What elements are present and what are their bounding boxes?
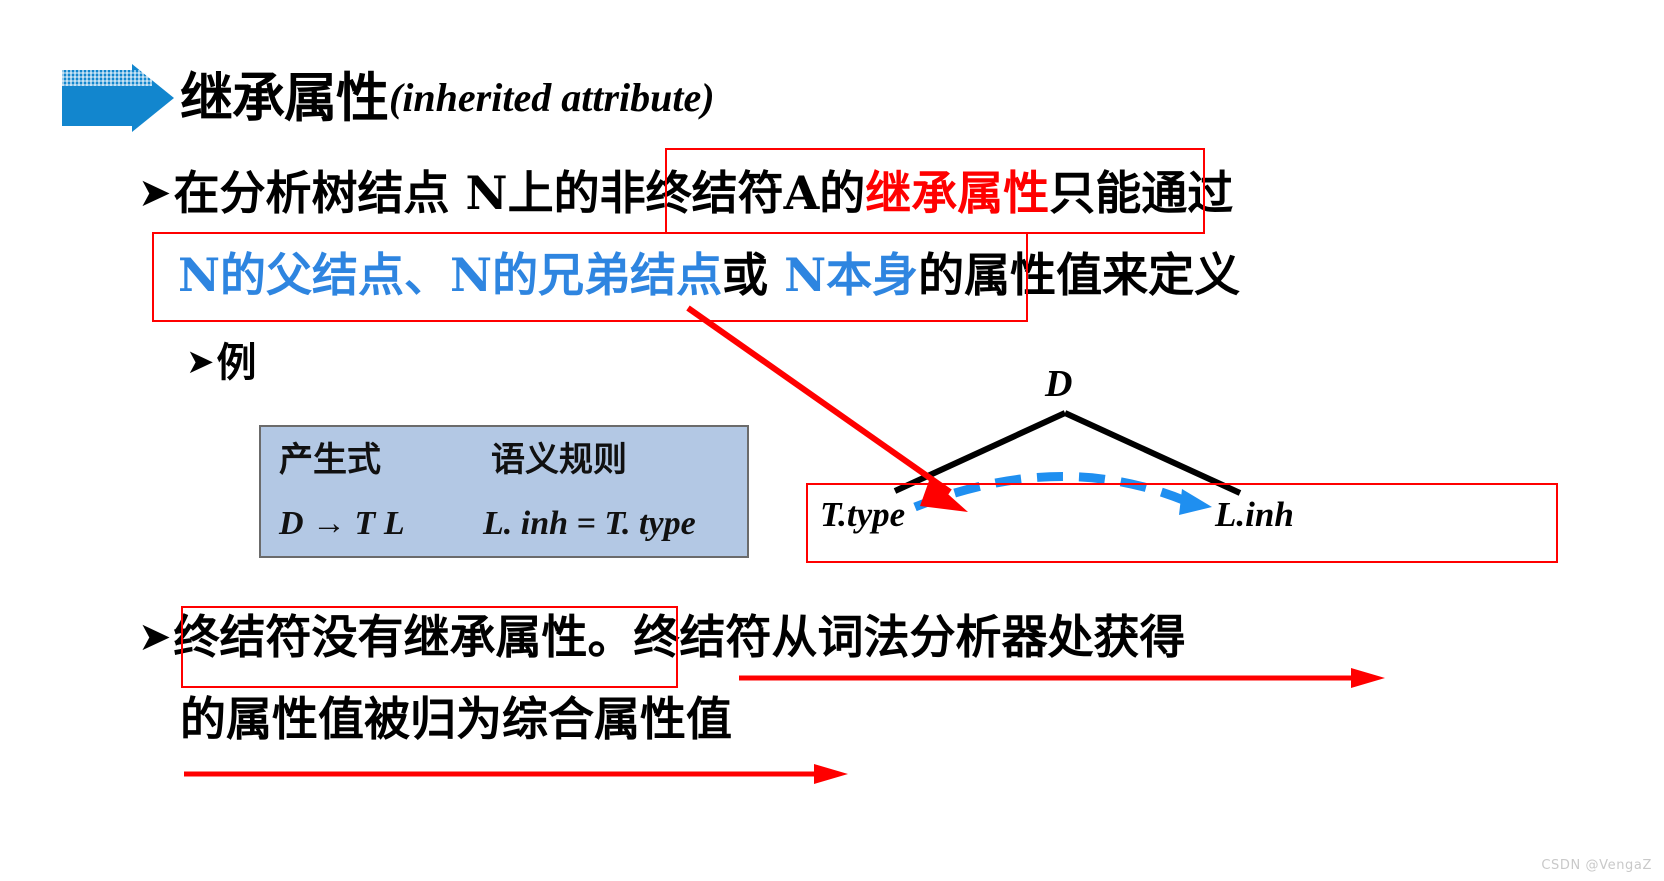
line1-seg4: 只能通过 — [1049, 166, 1233, 220]
example-label: 例 — [217, 339, 257, 386]
line4-seg1: 的属性值被归为综合属性值 — [180, 692, 732, 746]
title-english: (inherited attribute) — [389, 78, 715, 118]
red-underline-arrow-line4 — [182, 758, 862, 784]
slide-canvas: 继承属性 (inherited attribute) ➤在分析树结点 N上的非终… — [0, 0, 1664, 881]
bullet-line-4: 的属性值被归为综合属性值 — [180, 696, 732, 742]
red-pointer-arrow — [680, 300, 1020, 530]
tree-node-root-d: D — [1045, 365, 1072, 403]
line1-seg2: 非终结符A的 — [600, 166, 866, 220]
bullet-example: ➤例 — [186, 343, 257, 383]
arrow-bullet-icon — [62, 64, 174, 132]
red-underline-arrow-head-line3 — [1351, 668, 1385, 688]
bullet-marker-icon-example: ➤ — [186, 342, 215, 382]
line2-seg1-parent-sibling: N的父结点、N的兄弟结点 — [178, 248, 722, 302]
bullet-line-3: ➤终结符没有继承属性。终结符从词法分析器处获得 — [138, 614, 1186, 660]
line3-seg2: 。终结符从词法分析器处获得 — [588, 610, 1186, 664]
table-cell-semantic-rule: L. inh = T. type — [483, 507, 696, 541]
production-table: 产生式 语义规则 D → T L L. inh = T. type — [259, 425, 749, 558]
arrow-texture — [62, 70, 152, 86]
line1-highlight-inherited-attribute: 继承属性 — [865, 166, 1049, 220]
table-header-production: 产生式 — [279, 443, 381, 477]
line1-seg1: 在分析树结点 N上的 — [174, 166, 600, 220]
line2-seg3-self: N本身 — [784, 248, 918, 302]
title-chinese: 继承属性 — [180, 72, 388, 125]
line3-seg1-terminal-no-inherited: 终结符没有继承属性 — [174, 610, 588, 664]
red-underline-arrow-line3 — [737, 662, 1397, 688]
bullet-line-2: N的父结点、N的兄弟结点或 N本身的属性值来定义 — [178, 252, 1240, 298]
bullet-marker-icon-3: ➤ — [138, 614, 172, 660]
line2-seg2: 或 — [722, 248, 784, 302]
red-pointer-arrow-head — [920, 478, 968, 512]
bullet-marker-icon: ➤ — [138, 170, 172, 216]
bullet-line-1: ➤在分析树结点 N上的非终结符A的继承属性只能通过 — [138, 170, 1233, 216]
red-underline-arrow-head-line4 — [814, 764, 848, 784]
line2-seg4: 的属性值来定义 — [918, 248, 1240, 302]
tree-node-l-inh: L.inh — [1215, 497, 1294, 532]
watermark-text: CSDN @VengaZ — [1541, 858, 1652, 873]
table-header-semantic-rule: 语义规则 — [491, 443, 627, 477]
table-cell-production: D → T L — [279, 507, 405, 541]
inheritance-arrow-head — [1179, 489, 1212, 515]
page-title: 继承属性 (inherited attribute) — [62, 62, 715, 134]
